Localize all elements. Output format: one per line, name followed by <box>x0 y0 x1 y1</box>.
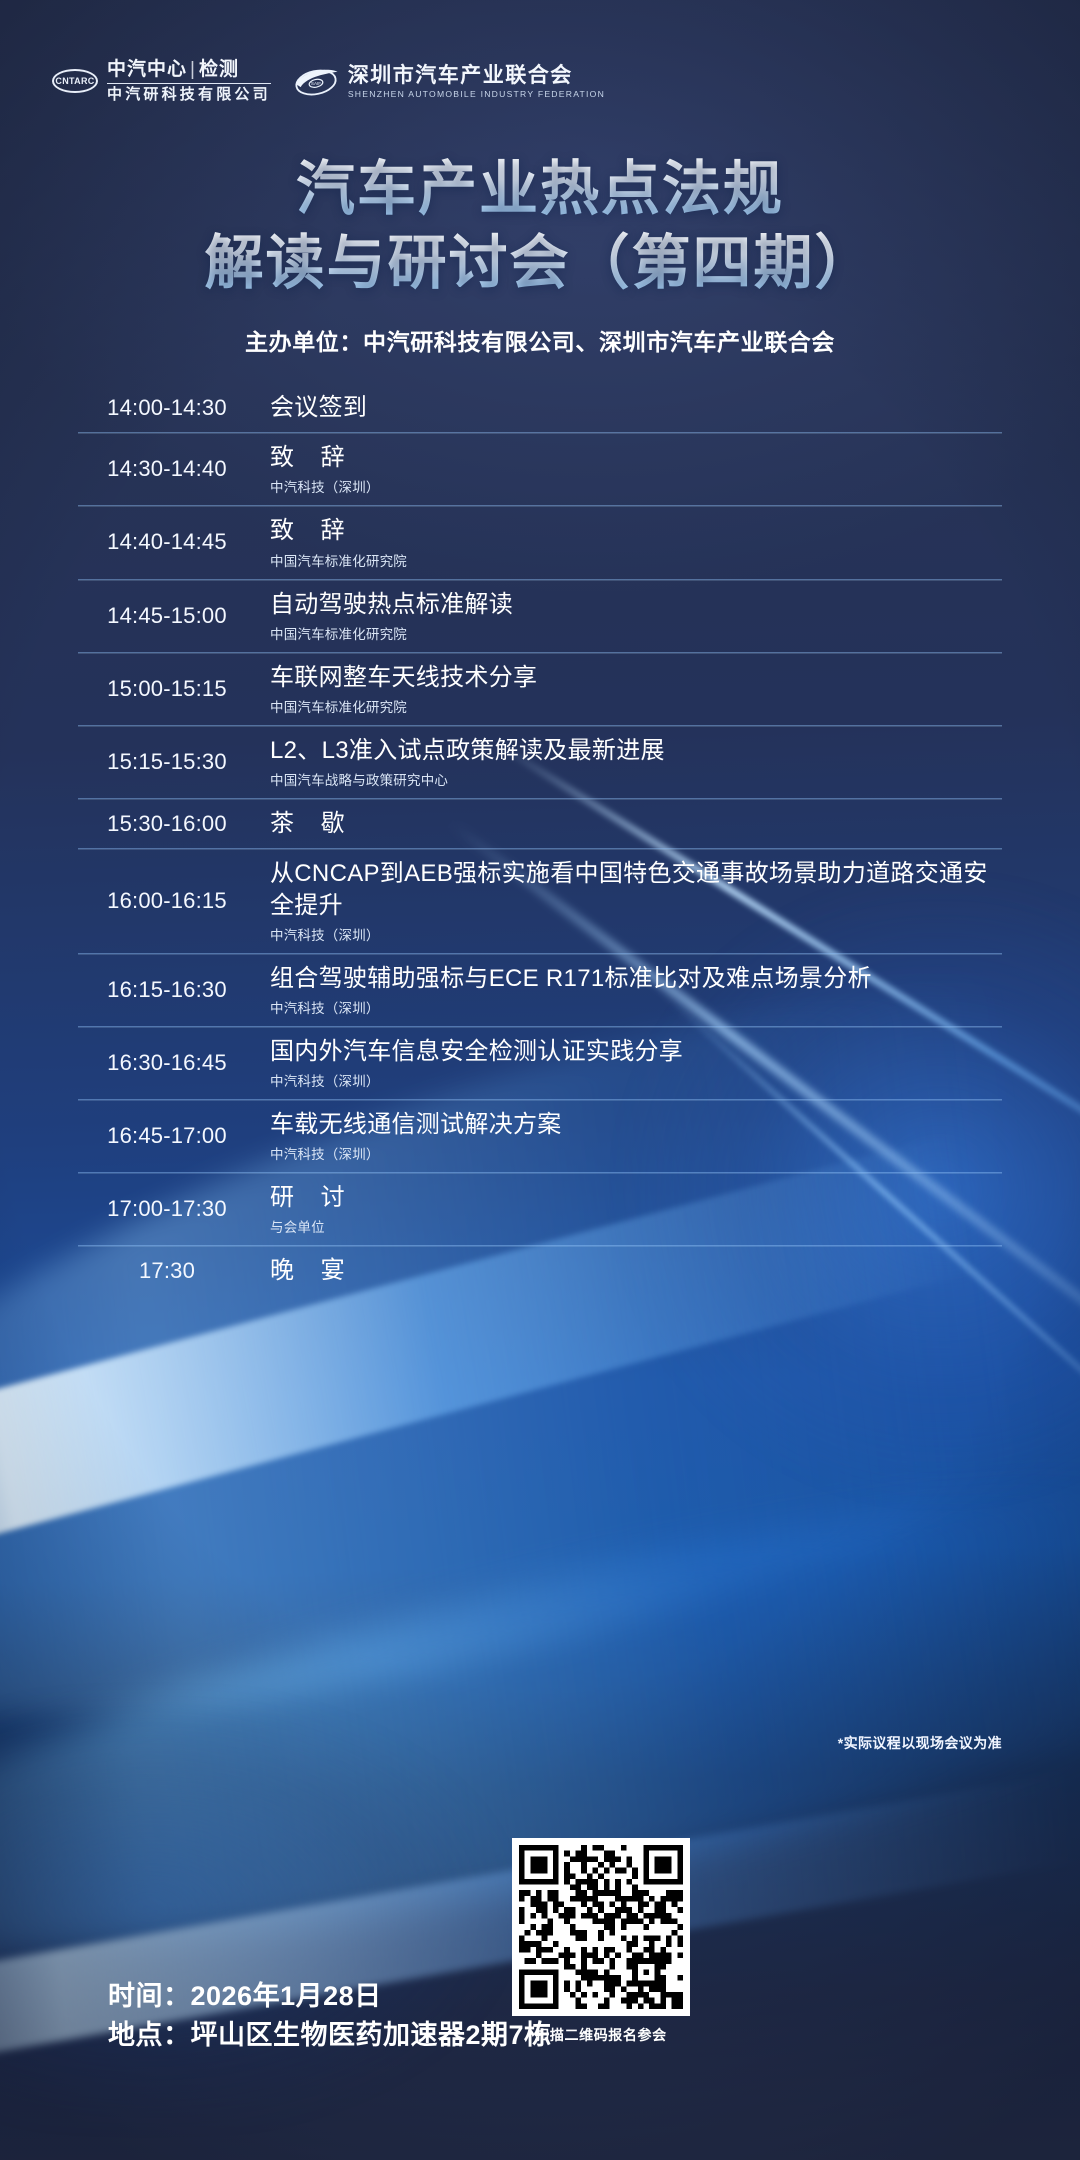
agenda-row-content: 车联网整车天线技术分享中国汽车标准化研究院 <box>256 662 1002 716</box>
agenda-row-topic: 会议签到 <box>270 392 1002 423</box>
agenda-row-time: 14:45-15:00 <box>78 603 256 629</box>
cntarc-line1-a: 中汽中心 <box>107 59 187 80</box>
agenda-row-content: 自动驾驶热点标准解读中国汽车标准化研究院 <box>256 589 1002 643</box>
agenda-row-time: 16:45-17:00 <box>78 1123 256 1149</box>
saif-swoosh-icon: SAIF <box>293 64 339 98</box>
organizer-subtitle: 主办单位：中汽研科技有限公司、深圳市汽车产业联合会 <box>0 323 1080 357</box>
agenda-row: 16:30-16:45国内外汽车信息安全检测认证实践分享中汽科技（深圳） <box>78 1027 1002 1100</box>
qr-caption: 扫描二维码报名参会 <box>512 2025 690 2045</box>
agenda-row: 14:45-15:00自动驾驶热点标准解读中国汽车标准化研究院 <box>78 580 1002 653</box>
agenda-row-time: 15:30-16:00 <box>78 811 256 837</box>
agenda-row-topic: 茶 歇 <box>270 808 1002 839</box>
logo-row: CNTARC 中汽中心|检测 中汽研科技有限公司 SAIF 深圳市汽车产业联合会… <box>52 60 605 103</box>
agenda-row-topic: L2、L3准入试点政策解读及最新进展 <box>270 735 1002 766</box>
svg-text:SAIF: SAIF <box>311 82 321 87</box>
agenda-row-time: 17:00-17:30 <box>78 1196 256 1222</box>
cntarc-line1-b: 检测 <box>199 59 239 80</box>
qr-block[interactable]: 扫描二维码报名参会 <box>512 1838 690 2045</box>
agenda-row-org: 中国汽车战略与政策研究中心 <box>270 769 1002 789</box>
agenda-row-org: 中汽科技（深圳） <box>270 476 1002 496</box>
agenda-row: 15:00-15:15车联网整车天线技术分享中国汽车标准化研究院 <box>78 653 1002 726</box>
agenda-row: 17:00-17:30研 讨与会单位 <box>78 1173 1002 1246</box>
agenda-row: 14:40-14:45致 辞中国汽车标准化研究院 <box>78 506 1002 579</box>
agenda-row: 16:45-17:00车载无线通信测试解决方案中汽科技（深圳） <box>78 1100 1002 1173</box>
agenda-row-time: 17:30 <box>78 1258 256 1284</box>
agenda-row-time: 14:40-14:45 <box>78 529 256 555</box>
agenda-row-content: 车载无线通信测试解决方案中汽科技（深圳） <box>256 1109 1002 1163</box>
cntarc-oval-icon: CNTARC <box>52 69 98 93</box>
cntarc-line1: 中汽中心|检测 <box>107 60 271 80</box>
cntarc-text: 中汽中心|检测 中汽研科技有限公司 <box>107 60 271 103</box>
agenda-row-topic: 研 讨 <box>270 1182 1002 1213</box>
cntarc-line1-sep: | <box>187 59 199 80</box>
agenda-row-content: 致 辞中国汽车标准化研究院 <box>256 515 1002 569</box>
agenda-row-time: 15:00-15:15 <box>78 676 256 702</box>
agenda-row-org: 中汽科技（深圳） <box>270 924 1002 944</box>
saif-line1: 深圳市汽车产业联合会 <box>348 64 605 87</box>
agenda-row-content: 晚 宴 <box>256 1255 1002 1286</box>
agenda-row-topic: 致 辞 <box>270 515 1002 546</box>
agenda-row: 15:30-16:00茶 歇 <box>78 799 1002 849</box>
agenda-row-time: 16:00-16:15 <box>78 888 256 914</box>
agenda-row-time: 16:30-16:45 <box>78 1050 256 1076</box>
agenda-row-org: 中国汽车标准化研究院 <box>270 550 1002 570</box>
agenda-row-topic: 组合驾驶辅助强标与ECE R171标准比对及难点场景分析 <box>270 963 1002 994</box>
agenda-row-content: L2、L3准入试点政策解读及最新进展中国汽车战略与政策研究中心 <box>256 735 1002 789</box>
agenda-row: 16:15-16:30组合驾驶辅助强标与ECE R171标准比对及难点场景分析中… <box>78 954 1002 1027</box>
agenda-row-time: 14:00-14:30 <box>78 395 256 421</box>
agenda-list: 14:00-14:30会议签到14:30-14:40致 辞中汽科技（深圳）14:… <box>78 383 1002 1296</box>
logo-cntarc: CNTARC 中汽中心|检测 中汽研科技有限公司 <box>52 60 271 103</box>
agenda-row: 17:30晚 宴 <box>78 1246 1002 1295</box>
agenda-row-org: 中国汽车标准化研究院 <box>270 623 1002 643</box>
title-line-2: 解读与研讨会（第四期） <box>0 226 1080 300</box>
agenda-row-topic: 车联网整车天线技术分享 <box>270 662 1002 693</box>
agenda-row-topic: 自动驾驶热点标准解读 <box>270 589 1002 620</box>
background-glow-bottom-left <box>0 1700 500 2120</box>
agenda-row-org: 中汽科技（深圳） <box>270 1143 1002 1163</box>
agenda-footnote: *实际议程以现场会议为准 <box>838 1733 1002 1753</box>
qr-code-image[interactable] <box>512 1838 690 2016</box>
event-place: 地点：坪山区生物医药加速器2期7栋 <box>108 2016 552 2055</box>
event-details: 时间：2026年1月28日 地点：坪山区生物医药加速器2期7栋 <box>108 1977 552 2055</box>
agenda-row-time: 14:30-14:40 <box>78 456 256 482</box>
agenda-row: 14:00-14:30会议签到 <box>78 383 1002 433</box>
agenda-row-content: 茶 歇 <box>256 808 1002 839</box>
agenda-row-org: 中汽科技（深圳） <box>270 1070 1002 1090</box>
agenda-row-content: 会议签到 <box>256 392 1002 423</box>
agenda-row-topic: 车载无线通信测试解决方案 <box>270 1109 1002 1140</box>
agenda-row-content: 研 讨与会单位 <box>256 1182 1002 1236</box>
saif-text: 深圳市汽车产业联合会 SHENZHEN AUTOMOBILE INDUSTRY … <box>348 64 605 99</box>
agenda-row-content: 组合驾驶辅助强标与ECE R171标准比对及难点场景分析中汽科技（深圳） <box>256 963 1002 1017</box>
qr-code-svg <box>519 1845 683 2009</box>
agenda-row-topic: 致 辞 <box>270 442 1002 473</box>
poster-canvas: CNTARC 中汽中心|检测 中汽研科技有限公司 SAIF 深圳市汽车产业联合会… <box>0 0 1080 2160</box>
agenda-row-org: 与会单位 <box>270 1216 1002 1236</box>
agenda-row: 15:15-15:30L2、L3准入试点政策解读及最新进展中国汽车战略与政策研究… <box>78 726 1002 799</box>
agenda-row-topic: 国内外汽车信息安全检测认证实践分享 <box>270 1036 1002 1067</box>
agenda-row-content: 从CNCAP到AEB强标实施看中国特色交通事故场景助力道路交通安全提升中汽科技（… <box>256 858 1002 943</box>
poster-title: 汽车产业热点法规 解读与研讨会（第四期） <box>0 152 1080 301</box>
cntarc-line2: 中汽研科技有限公司 <box>107 87 271 103</box>
agenda-row-time: 16:15-16:30 <box>78 977 256 1003</box>
agenda-row-topic: 晚 宴 <box>270 1255 1002 1286</box>
agenda-row: 16:00-16:15从CNCAP到AEB强标实施看中国特色交通事故场景助力道路… <box>78 849 1002 953</box>
agenda-row-content: 国内外汽车信息安全检测认证实践分享中汽科技（深圳） <box>256 1036 1002 1090</box>
agenda-row-org: 中国汽车标准化研究院 <box>270 696 1002 716</box>
agenda-row-org: 中汽科技（深圳） <box>270 997 1002 1017</box>
agenda-row-time: 15:15-15:30 <box>78 749 256 775</box>
agenda-row: 14:30-14:40致 辞中汽科技（深圳） <box>78 433 1002 506</box>
event-time: 时间：2026年1月28日 <box>108 1977 552 2016</box>
agenda-row-topic: 从CNCAP到AEB强标实施看中国特色交通事故场景助力道路交通安全提升 <box>270 858 1002 920</box>
saif-line2: SHENZHEN AUTOMOBILE INDUSTRY FEDERATION <box>348 89 605 99</box>
agenda-row-content: 致 辞中汽科技（深圳） <box>256 442 1002 496</box>
logo-saif: SAIF 深圳市汽车产业联合会 SHENZHEN AUTOMOBILE INDU… <box>293 64 605 99</box>
title-line-1: 汽车产业热点法规 <box>0 152 1080 226</box>
cntarc-divider <box>107 83 271 84</box>
